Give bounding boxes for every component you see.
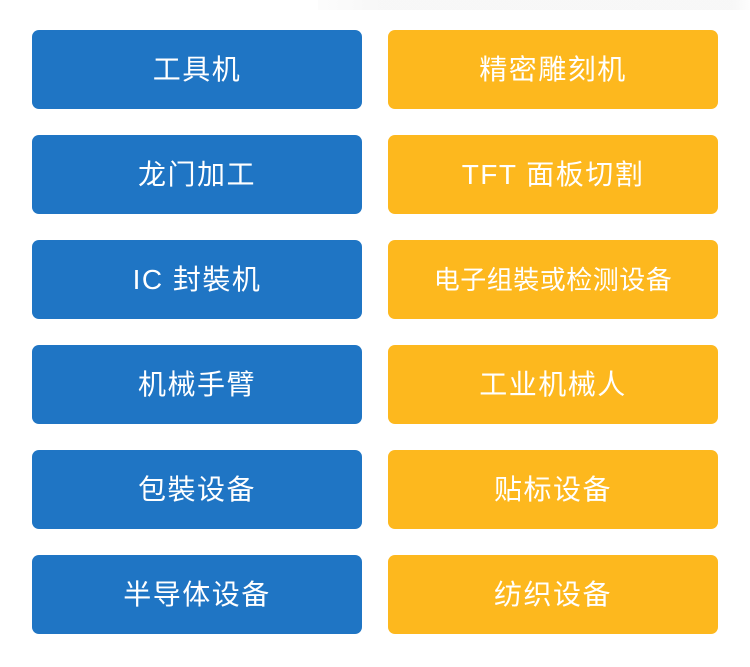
category-chip-label: 龙门加工 [138, 161, 256, 189]
category-chip-label: TFT 面板切割 [462, 161, 645, 189]
category-chip-packaging-equipment[interactable]: 包裝设备 [32, 450, 362, 529]
category-chip-label: 半导体设备 [123, 581, 271, 609]
category-chip-labeling-equipment[interactable]: 贴标设备 [388, 450, 718, 529]
category-chip-gongjuji[interactable]: 工具机 [32, 30, 362, 109]
top-edge-band [318, 0, 750, 10]
category-chip-label: 精密雕刻机 [479, 56, 627, 84]
category-chip-label: 工业机械人 [479, 371, 627, 399]
category-chip-label: IC 封裝机 [133, 266, 262, 294]
category-chip-electronic-assembly-inspection[interactable]: 电子组裝或检测设备 [388, 240, 718, 319]
category-chip-robotic-arm[interactable]: 机械手臂 [32, 345, 362, 424]
category-chip-ic-packaging-machine[interactable]: IC 封裝机 [32, 240, 362, 319]
category-chip-label: 机械手臂 [138, 371, 256, 399]
category-chip-label: 电子组裝或检测设备 [434, 267, 673, 293]
category-chip-label: 工具机 [153, 56, 242, 84]
category-chip-longmenjiagong[interactable]: 龙门加工 [32, 135, 362, 214]
category-chip-label: 纺织设备 [494, 581, 612, 609]
category-chip-label: 贴标设备 [494, 476, 612, 504]
category-chip-grid: 工具机 精密雕刻机 龙门加工 TFT 面板切割 IC 封裝机 电子组裝或检测设备… [32, 30, 718, 634]
category-chip-semiconductor-equipment[interactable]: 半导体设备 [32, 555, 362, 634]
category-chip-label: 包裝设备 [138, 476, 256, 504]
category-chip-industrial-robot[interactable]: 工业机械人 [388, 345, 718, 424]
category-chip-tft-panel-cutting[interactable]: TFT 面板切割 [388, 135, 718, 214]
category-chip-textile-equipment[interactable]: 纺织设备 [388, 555, 718, 634]
category-chip-jingmidiaokeji[interactable]: 精密雕刻机 [388, 30, 718, 109]
